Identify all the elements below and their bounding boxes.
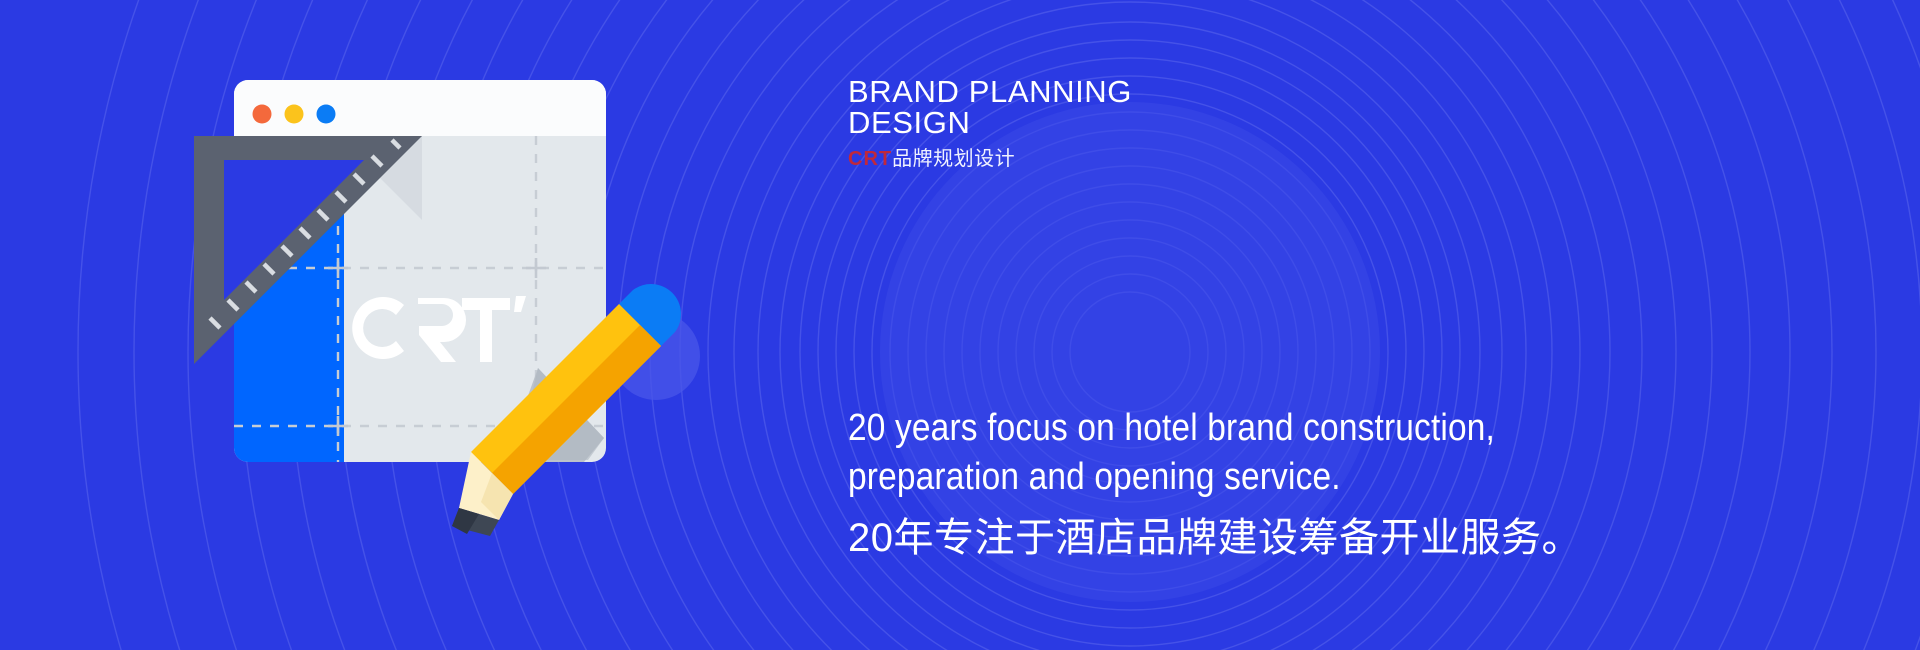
- brand-banner: BRAND PLANNING DESIGN CRT品牌规划设计 20 years…: [0, 0, 1920, 650]
- headline-english: BRAND PLANNING DESIGN: [848, 76, 1548, 138]
- tagline-chinese: 20年专注于酒店品牌建设筹备开业服务。: [848, 513, 1848, 563]
- close-dot: [253, 105, 272, 124]
- headline-block: BRAND PLANNING DESIGN CRT品牌规划设计: [848, 76, 1548, 170]
- design-illustration: [186, 68, 746, 588]
- maximize-dot: [317, 105, 336, 124]
- headline-chinese-row: CRT品牌规划设计: [848, 148, 1548, 170]
- brand-mark-crt: CRT: [848, 148, 892, 170]
- tagline-english: 20 years focus on hotel brand constructi…: [848, 404, 1728, 503]
- minimize-dot: [285, 105, 304, 124]
- headline-chinese: 品牌规划设计: [892, 148, 1015, 170]
- tagline-block: 20 years focus on hotel brand constructi…: [848, 404, 1848, 563]
